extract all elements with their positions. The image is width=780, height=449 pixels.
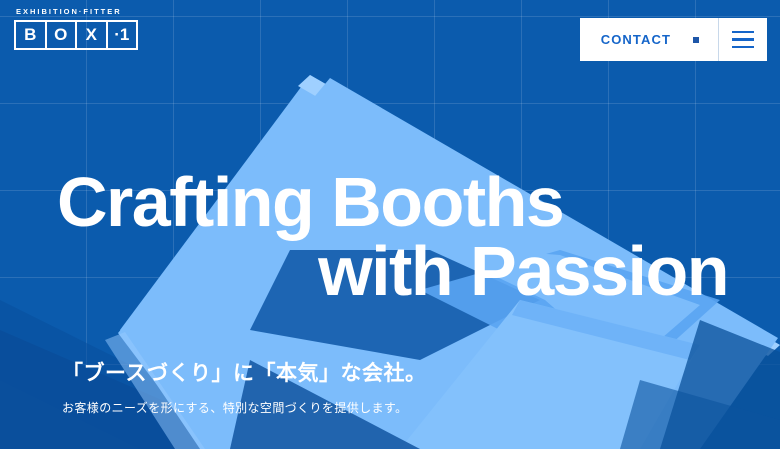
headline-line-2: with Passion: [57, 237, 728, 306]
shape-dark-wedge-left: [0, 330, 275, 449]
hero-section: EXHIBITION·FITTER B O X ·1 CONTACT Craft: [0, 0, 780, 449]
shape-chevron: [430, 245, 700, 370]
shape-rotated-panel: [118, 78, 778, 449]
brand-logo[interactable]: EXHIBITION·FITTER B O X ·1: [14, 8, 140, 50]
hero-lede: お客様のニーズを形にする、特別な空間づくりを提供します。: [62, 400, 408, 417]
shape-main-slab-top: [298, 75, 780, 356]
shape-highlight-strip: [105, 332, 205, 449]
shape-bottom-left-dark: [230, 360, 420, 449]
logo-cell-x: X: [77, 22, 108, 48]
logo-mark: B O X ·1: [14, 20, 138, 50]
contact-button[interactable]: CONTACT: [580, 18, 718, 61]
page-title: Crafting Booths with Passion: [57, 168, 728, 307]
shape-dark-wedge-upper: [0, 300, 300, 449]
shape-lower-square-edge: [512, 300, 700, 360]
logo-cell-b: B: [16, 22, 47, 48]
menu-bar-middle: [732, 38, 754, 41]
site-header: EXHIBITION·FITTER B O X ·1 CONTACT: [0, 0, 780, 72]
header-actions: CONTACT: [580, 18, 767, 61]
shape-lower-square: [400, 300, 700, 449]
headline-line-1: Crafting Booths: [57, 168, 728, 237]
shape-fold-band: [250, 250, 540, 360]
menu-bar-top: [732, 31, 754, 34]
menu-bar-bottom: [732, 46, 754, 49]
square-bullet-icon: [693, 37, 699, 43]
shape-main-slab: [120, 75, 780, 449]
contact-button-label: CONTACT: [601, 33, 671, 46]
hero-subheadline: 「ブースづくり」に「本気」な会社。: [62, 361, 426, 387]
shape-right-dark-1: [660, 320, 780, 449]
logo-cell-one: ·1: [108, 22, 137, 48]
shape-fold-band-2: [420, 250, 720, 372]
logo-tagline: EXHIBITION·FITTER: [16, 8, 140, 16]
logo-cell-o: O: [47, 22, 78, 48]
shape-right-dark-2: [620, 380, 780, 449]
hamburger-menu-icon[interactable]: [719, 18, 767, 61]
